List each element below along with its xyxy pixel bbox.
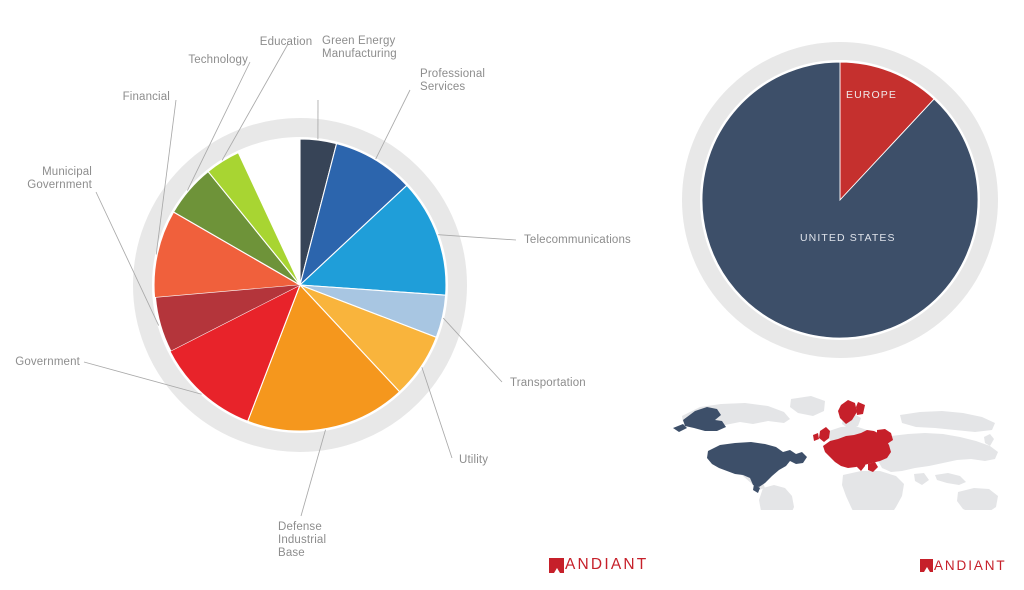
infographic-canvas: Financial Technology Education Green Ene… [0, 0, 1024, 590]
mandiant-m-mark [549, 558, 564, 573]
pie-slice-label-europe: EUROPE [846, 89, 897, 101]
mandiant-m-mark [920, 559, 933, 572]
mandiant-logo-right: ANDIANT [920, 558, 1007, 573]
pie-slice[interactable] [702, 62, 978, 338]
mandiant-wordmark: ANDIANT [565, 556, 648, 574]
world-map [665, 385, 1015, 510]
mandiant-wordmark: ANDIANT [934, 558, 1007, 573]
pie-slice-label-united-states: UNITED STATES [800, 232, 896, 244]
mandiant-logo-left: ANDIANT [549, 556, 648, 574]
